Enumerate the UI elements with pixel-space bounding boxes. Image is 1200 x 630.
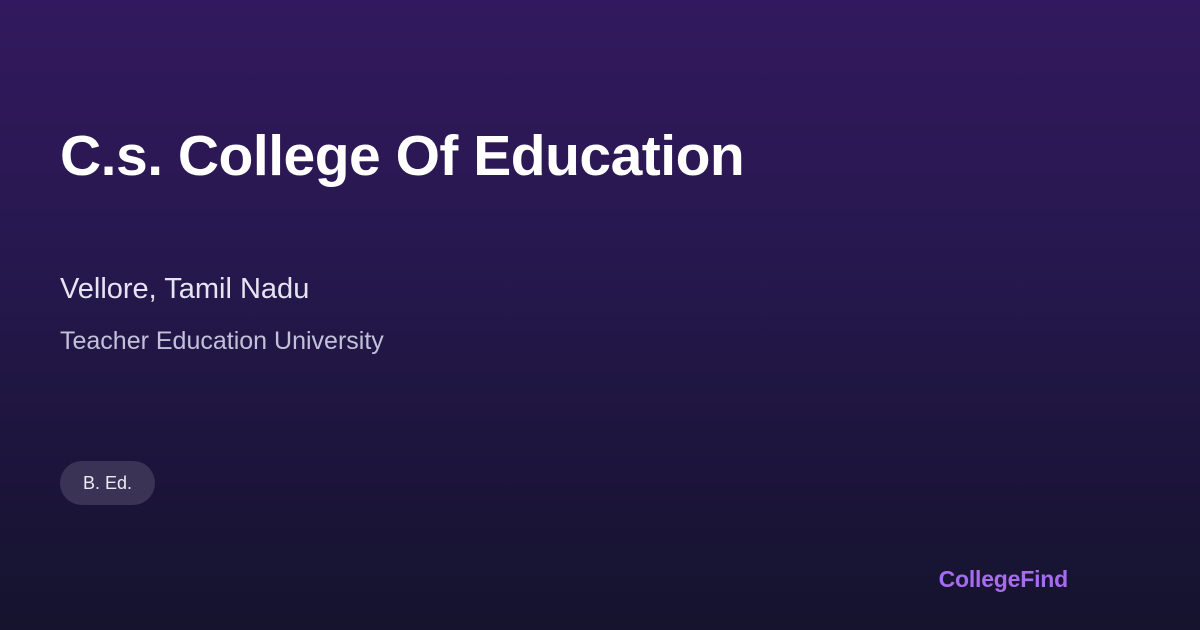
college-location: Vellore, Tamil Nadu [60,272,309,307]
og-card: C.s. College Of Education Vellore, Tamil… [0,0,1200,630]
card-content: C.s. College Of Education Vellore, Tamil… [60,0,1140,630]
college-category: Teacher Education University [60,326,384,356]
badge-list: B. Ed. [60,461,155,505]
page-title: C.s. College Of Education [60,124,744,190]
brand-logo: CollegeFind [939,568,1068,591]
status-badge: B. Ed. [60,461,155,505]
